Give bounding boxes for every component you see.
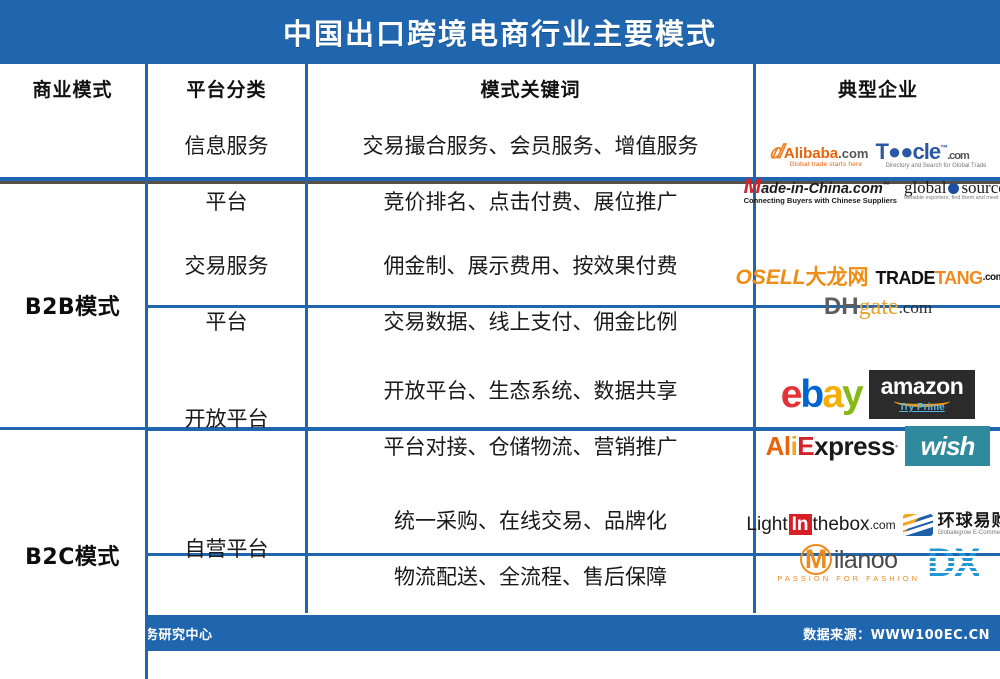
platform-line: 平台: [206, 306, 248, 336]
platform-line: 信息服务: [185, 130, 269, 160]
wish-logo: wish: [905, 426, 991, 466]
keywords-cell: 统一采购、在线交易、品牌化 物流配送、全流程、售后保障: [308, 483, 756, 613]
made-in-china-logo: Made-in-China.com™ Connecting Buyers wit…: [744, 176, 897, 205]
keyword-line: 平台对接、仓储物流、营销推广: [384, 431, 678, 461]
platform-type-cell: 开放平台: [148, 353, 308, 483]
globalegrow-logo: 环球易购 Globalegrow E-Commerce: [903, 513, 1000, 536]
table-row: 交易服务 平台 佣金制、展示费用、按效果付费 交易数据、线上支付、佣金比例 OS…: [0, 233, 1000, 353]
modes-table: 商业模式 平台分类 模式关键词 典型企业 信息服务 平台 交易撮合服务、会员服务…: [0, 64, 1000, 615]
made-in-china-tagline: Connecting Buyers with Chinese Suppliers: [744, 197, 897, 205]
logo-row: AliExpress• wish: [760, 426, 996, 466]
logo-stack: LightInthebox.com 环球易购 Globalegrow E-Com…: [756, 483, 1000, 613]
column-header-typical-enterprises: 典型企业: [756, 64, 1000, 113]
amazon-logo: amazon Try Prime: [869, 370, 976, 420]
enterprises-cell: ⅆAlibaba.com Global trade starts here T●…: [756, 113, 1000, 233]
footer-source: 数据来源：WWW100EC.CN: [803, 624, 990, 643]
dhgate-logo: DHgate.com: [824, 295, 932, 319]
global-sources-logo: globalsources Reliable exporters: find t…: [904, 179, 1000, 202]
logo-row: Milanoo PASSION FOR FASHION DX: [760, 543, 996, 583]
keyword-line: 交易数据、线上支付、佣金比例: [384, 306, 678, 336]
amazon-tagline: Try Prime: [899, 403, 945, 413]
enterprises-cell: OSELL大龙网 TRADETANG.com易商网 DHgate.com: [756, 233, 1000, 353]
logo-row: DHgate.com: [760, 295, 996, 319]
platform-type-cell: 交易服务 平台: [148, 233, 308, 353]
platform-type-cell: 信息服务 平台: [148, 113, 308, 233]
keyword-line: 佣金制、展示费用、按效果付费: [384, 250, 678, 280]
keyword-line: 统一采购、在线交易、品牌化: [394, 505, 667, 535]
page-title: 中国出口跨境电商行业主要模式: [283, 11, 717, 53]
table-header-row: 商业模式 平台分类 模式关键词 典型企业: [0, 64, 1000, 113]
milanoo-tagline: PASSION FOR FASHION: [777, 575, 920, 583]
platform-line: 开放平台: [185, 403, 269, 433]
table-row: 信息服务 平台 交易撮合服务、会员服务、增值服务 竞价排名、点击付费、展位推广 …: [0, 113, 1000, 233]
platform-line: 自营平台: [185, 533, 269, 563]
keyword-line: 开放平台、生态系统、数据共享: [384, 375, 678, 405]
osell-logo: OSELL大龙网: [735, 267, 868, 288]
keyword-line: 竞价排名、点击付费、展位推广: [384, 186, 678, 216]
keywords-cell: 交易撮合服务、会员服务、增值服务 竞价排名、点击付费、展位推广: [308, 113, 756, 233]
toocle-tagline: Directory and Search for Global Trade: [885, 163, 986, 169]
table-row: 开放平台 开放平台、生态系统、数据共享 平台对接、仓储物流、营销推广 ebay …: [0, 353, 1000, 483]
platform-line: 平台: [206, 186, 248, 216]
globalegrow-mark-icon: [903, 514, 933, 536]
logo-stack: ⅆAlibaba.com Global trade starts here T●…: [756, 113, 1000, 233]
business-mode-b2c-cell: B2C模式: [0, 430, 148, 679]
alibaba-logo: ⅆAlibaba.com Global trade starts here: [769, 143, 868, 169]
platform-line: 交易服务: [185, 250, 269, 280]
logo-row: ebay amazon Try Prime: [760, 370, 996, 420]
enterprises-cell: ebay amazon Try Prime AliExpress• wish: [756, 353, 1000, 483]
logo-stack: ebay amazon Try Prime AliExpress• wish: [756, 353, 1000, 483]
alibaba-tagline: Global trade starts here: [789, 162, 862, 169]
keywords-cell: 开放平台、生态系统、数据共享 平台对接、仓储物流、营销推广: [308, 353, 756, 483]
logo-stack: OSELL大龙网 TRADETANG.com易商网 DHgate.com: [756, 233, 1000, 353]
globalegrow-name: 环球易购: [938, 513, 1000, 530]
toocle-logo: T●●cle™.com Directory and Search for Glo…: [875, 141, 986, 169]
column-header-mode-keywords: 模式关键词: [308, 64, 756, 113]
infographic-page: 中国出口跨境电商行业主要模式 商业模式 平台分类 模式关键词 典型企业 信息服务…: [0, 0, 1000, 651]
logo-row: Made-in-China.com™ Connecting Buyers wit…: [760, 176, 996, 205]
platform-type-cell: 自营平台: [148, 483, 308, 613]
enterprises-cell: LightInthebox.com 环球易购 Globalegrow E-Com…: [756, 483, 1000, 613]
column-header-platform-type: 平台分类: [148, 64, 308, 113]
globalegrow-tagline: Globalegrow E-Commerce: [938, 530, 1000, 536]
business-mode-b2b-cell: B2B模式: [0, 184, 148, 426]
aliexpress-logo: AliExpress•: [766, 433, 898, 459]
logo-row: OSELL大龙网 TRADETANG.com易商网: [760, 267, 996, 288]
table-row: 自营平台 统一采购、在线交易、品牌化 物流配送、全流程、售后保障 LightIn…: [0, 483, 1000, 613]
keyword-line: 交易撮合服务、会员服务、增值服务: [363, 130, 699, 160]
global-sources-tagline: Reliable exporters: find them and meet t…: [904, 196, 1000, 202]
column-header-business-mode: 商业模式: [0, 64, 148, 113]
dx-logo: DX: [927, 543, 979, 583]
ebay-logo: ebay: [781, 375, 862, 414]
keyword-line: 物流配送、全流程、售后保障: [394, 561, 667, 591]
tradetang-logo: TRADETANG.com易商网: [876, 269, 1000, 287]
milanoo-logo: Milanoo PASSION FOR FASHION: [777, 544, 920, 583]
logo-row: LightInthebox.com 环球易购 Globalegrow E-Com…: [760, 513, 996, 536]
title-bar: 中国出口跨境电商行业主要模式: [0, 0, 1000, 64]
lightinthebox-logo: LightInthebox.com: [746, 514, 895, 535]
footer-bar: 图表编制：中国电子商务研究中心 数据来源：WWW100EC.CN: [0, 615, 1000, 651]
logo-row: ⅆAlibaba.com Global trade starts here T●…: [760, 141, 996, 169]
keywords-cell: 佣金制、展示费用、按效果付费 交易数据、线上支付、佣金比例: [308, 233, 756, 353]
